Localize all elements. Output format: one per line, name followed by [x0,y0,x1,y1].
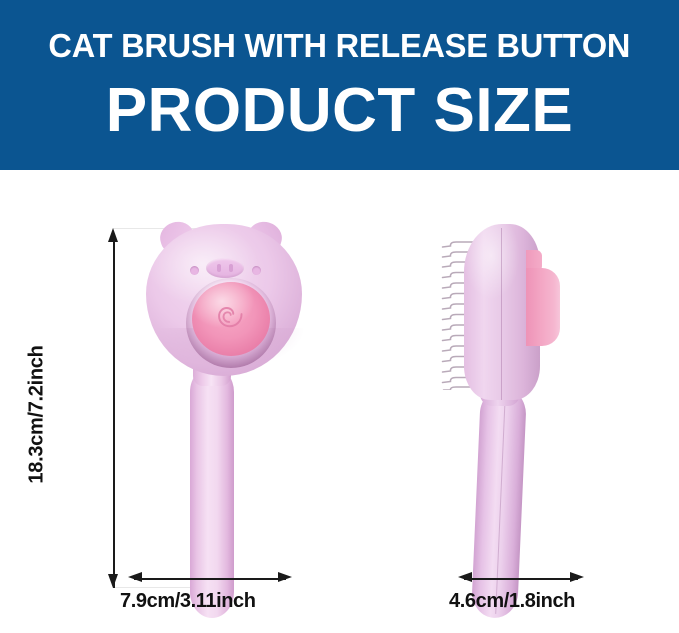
swirl-icon [215,305,247,335]
head-seam-line [501,228,502,400]
arrow-head-down-icon [108,574,118,588]
width-arrow-line [464,578,578,580]
cat-snout-icon [206,258,244,278]
arrow-head-left-icon [458,572,472,582]
product-subtitle: CAT BRUSH WITH RELEASE BUTTON [49,29,631,62]
width-dimension-side: 4.6cm/1.8inch [440,570,670,626]
width-dimension-front: 7.9cm/3.11inch [120,570,380,626]
arrow-head-right-icon [278,572,292,582]
arrow-head-left-icon [128,572,142,582]
arrow-head-right-icon [570,572,584,582]
width-arrow-line [134,578,286,580]
release-button-side[interactable] [526,268,560,346]
brush-head [146,224,302,376]
brush-front-view [140,218,320,618]
brush-side-view [440,218,620,618]
height-dimension-label: 18.3cm/7.2inch [26,315,49,515]
product-illustration-area: 18.3cm/7.2inch [0,170,679,633]
cat-eye-right-icon [252,266,261,275]
page-title: PRODUCT SIZE [106,80,574,142]
release-button[interactable] [192,282,270,356]
width-dimension-label-front: 7.9cm/3.11inch [120,590,256,613]
height-arrow-line [113,236,115,588]
cat-eye-left-icon [190,266,199,275]
height-dimension: 18.3cm/7.2inch [0,170,140,633]
nostril-right-icon [229,264,233,272]
nostril-left-icon [217,264,221,272]
header-banner: CAT BRUSH WITH RELEASE BUTTON PRODUCT SI… [0,0,679,170]
width-dimension-label-side: 4.6cm/1.8inch [449,590,575,613]
